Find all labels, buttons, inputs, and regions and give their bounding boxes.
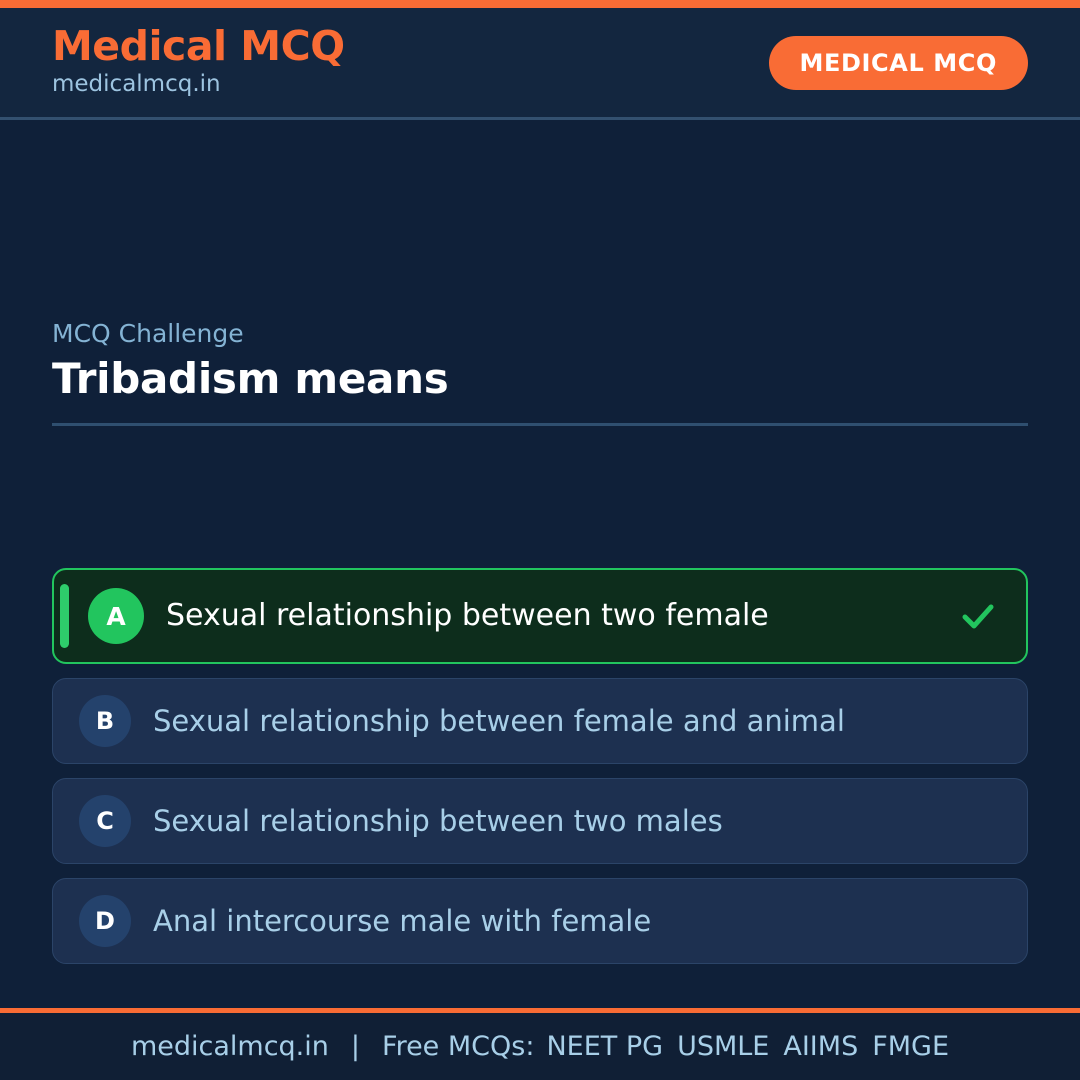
footer-exam-fmge: FMGE <box>872 1031 949 1062</box>
question-kicker: MCQ Challenge <box>52 319 1028 349</box>
footer-label: Free MCQs: <box>382 1031 534 1062</box>
footer-exam-aiims: AIIMS <box>783 1031 858 1062</box>
header-bar: Medical MCQ medicalmcq.in MEDICAL MCQ <box>0 8 1080 120</box>
footer-site: medicalmcq.in <box>131 1031 329 1062</box>
header-badge: MEDICAL MCQ <box>769 36 1028 90</box>
option-c[interactable]: C Sexual relationship between two males <box>52 778 1028 864</box>
brand-site: medicalmcq.in <box>52 70 345 100</box>
option-b-badge: B <box>79 695 131 747</box>
top-accent-strip <box>0 0 1080 8</box>
options-list: A Sexual relationship between two female… <box>52 568 1028 964</box>
option-d-text: Anal intercourse male with female <box>153 905 1005 937</box>
option-b[interactable]: B Sexual relationship between female and… <box>52 678 1028 764</box>
footer-exam-neet-pg: NEET PG <box>546 1031 663 1062</box>
main-content: MCQ Challenge Tribadism means A Sexual r… <box>0 120 1080 1008</box>
option-a-text: Sexual relationship between two female <box>166 599 958 633</box>
option-a-badge: A <box>88 588 144 644</box>
option-d-badge: D <box>79 895 131 947</box>
footer-bar: medicalmcq.in | Free MCQs: NEET PG USMLE… <box>0 1008 1080 1080</box>
check-icon <box>958 596 998 636</box>
question-block: MCQ Challenge Tribadism means <box>52 319 1028 426</box>
option-d[interactable]: D Anal intercourse male with female <box>52 878 1028 964</box>
brand-block: Medical MCQ medicalmcq.in <box>52 25 345 100</box>
question-divider <box>52 423 1028 426</box>
question-text: Tribadism means <box>52 355 1028 403</box>
footer-separator: | <box>351 1031 360 1062</box>
option-a[interactable]: A Sexual relationship between two female <box>52 568 1028 664</box>
option-c-text: Sexual relationship between two males <box>153 805 1005 837</box>
correct-accent-bar <box>60 584 69 648</box>
mcq-card: Medical MCQ medicalmcq.in MEDICAL MCQ MC… <box>0 0 1080 1080</box>
option-c-badge: C <box>79 795 131 847</box>
brand-title: Medical MCQ <box>52 25 345 68</box>
footer-exam-usmle: USMLE <box>677 1031 769 1062</box>
footer-content: medicalmcq.in | Free MCQs: NEET PG USMLE… <box>131 1031 949 1062</box>
option-b-text: Sexual relationship between female and a… <box>153 705 1005 737</box>
